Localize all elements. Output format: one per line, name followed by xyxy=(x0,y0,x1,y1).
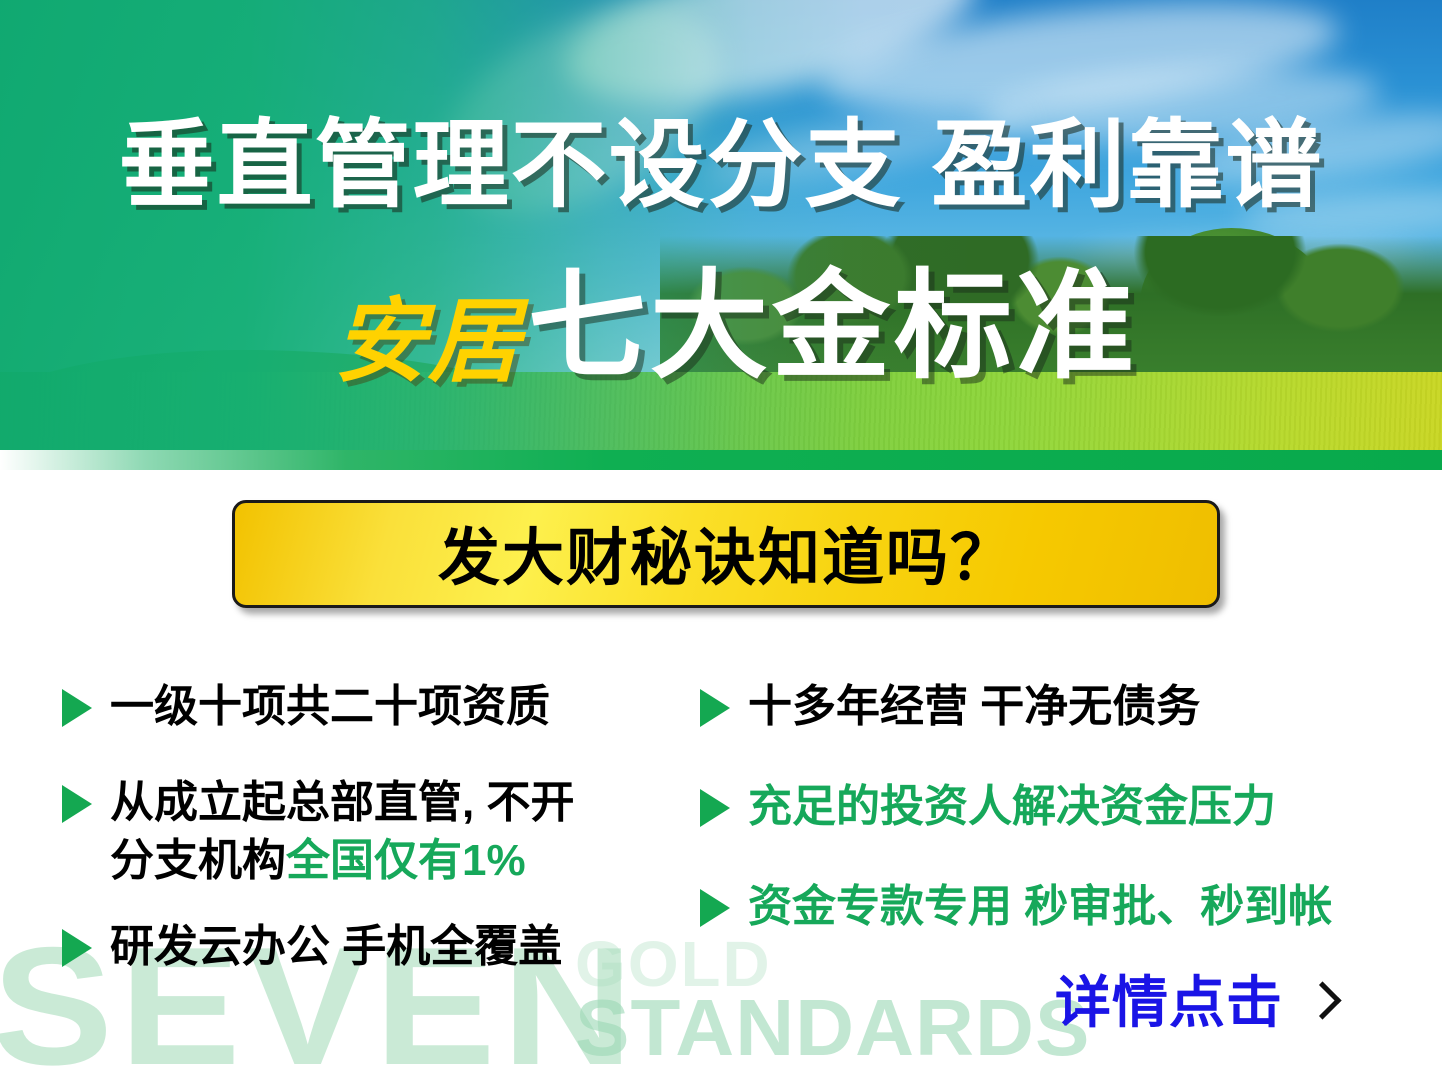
feature-text-part: 从成立起总部直管, 不开 xyxy=(110,778,574,827)
feature-item: 十多年经营 干净无债务 xyxy=(700,678,1200,736)
feature-item-text: 充足的投资人解决资金压力 xyxy=(748,778,1276,836)
green-gradient-overlay xyxy=(0,0,1442,470)
promo-poster: 垂直管理不设分支 盈利靠谱 安居七大金标准 发大财秘诀知道吗？ SEVEN GO… xyxy=(0,0,1442,1066)
hero-headline-secondary: 安居七大金标准 xyxy=(0,268,1442,388)
feature-item-text: 研发云办公 手机全覆盖 xyxy=(110,918,562,976)
chevron-right-icon xyxy=(1305,980,1335,1026)
hero-headline-subtitle: 七大金标准 xyxy=(528,261,1138,393)
details-cta-link[interactable]: 详情点击 xyxy=(1055,975,1335,1031)
callout-banner-text: 发大财秘诀知道吗？ xyxy=(438,507,1014,597)
feature-item-text: 从成立起总部直管, 不开分支机构全国仅有1% xyxy=(110,774,574,890)
hero-banner: 垂直管理不设分支 盈利靠谱 安居七大金标准 xyxy=(0,0,1442,470)
triangle-bullet-icon xyxy=(700,789,730,827)
triangle-bullet-icon xyxy=(62,929,92,967)
feature-item: 从成立起总部直管, 不开分支机构全国仅有1% xyxy=(62,774,574,890)
feature-item-text: 资金专款专用 秒审批、秒到帐 xyxy=(748,878,1332,936)
feature-text-highlight: 全国仅有1% xyxy=(286,836,526,885)
hero-bottom-bar xyxy=(0,450,1442,470)
triangle-bullet-icon xyxy=(700,689,730,727)
feature-item-text: 一级十项共二十项资质 xyxy=(110,678,550,736)
callout-banner[interactable]: 发大财秘诀知道吗？ xyxy=(232,500,1220,608)
triangle-bullet-icon xyxy=(700,889,730,927)
triangle-bullet-icon xyxy=(62,689,92,727)
details-cta-label: 详情点击 xyxy=(1055,975,1283,1031)
feature-item-text: 十多年经营 干净无债务 xyxy=(748,678,1200,736)
triangle-bullet-icon xyxy=(62,785,92,823)
feature-item: 资金专款专用 秒审批、秒到帐 xyxy=(700,878,1332,936)
hero-brand-name: 安居 xyxy=(334,291,528,393)
feature-list: 一级十项共二十项资质 从成立起总部直管, 不开分支机构全国仅有1% 研发云办公 … xyxy=(0,660,1442,1000)
feature-item: 充足的投资人解决资金压力 xyxy=(700,778,1276,836)
hero-headline-primary: 垂直管理不设分支 盈利靠谱 xyxy=(0,118,1442,214)
feature-text-part: 分支机构 xyxy=(110,836,286,885)
feature-item: 一级十项共二十项资质 xyxy=(62,678,550,736)
feature-item: 研发云办公 手机全覆盖 xyxy=(62,918,562,976)
